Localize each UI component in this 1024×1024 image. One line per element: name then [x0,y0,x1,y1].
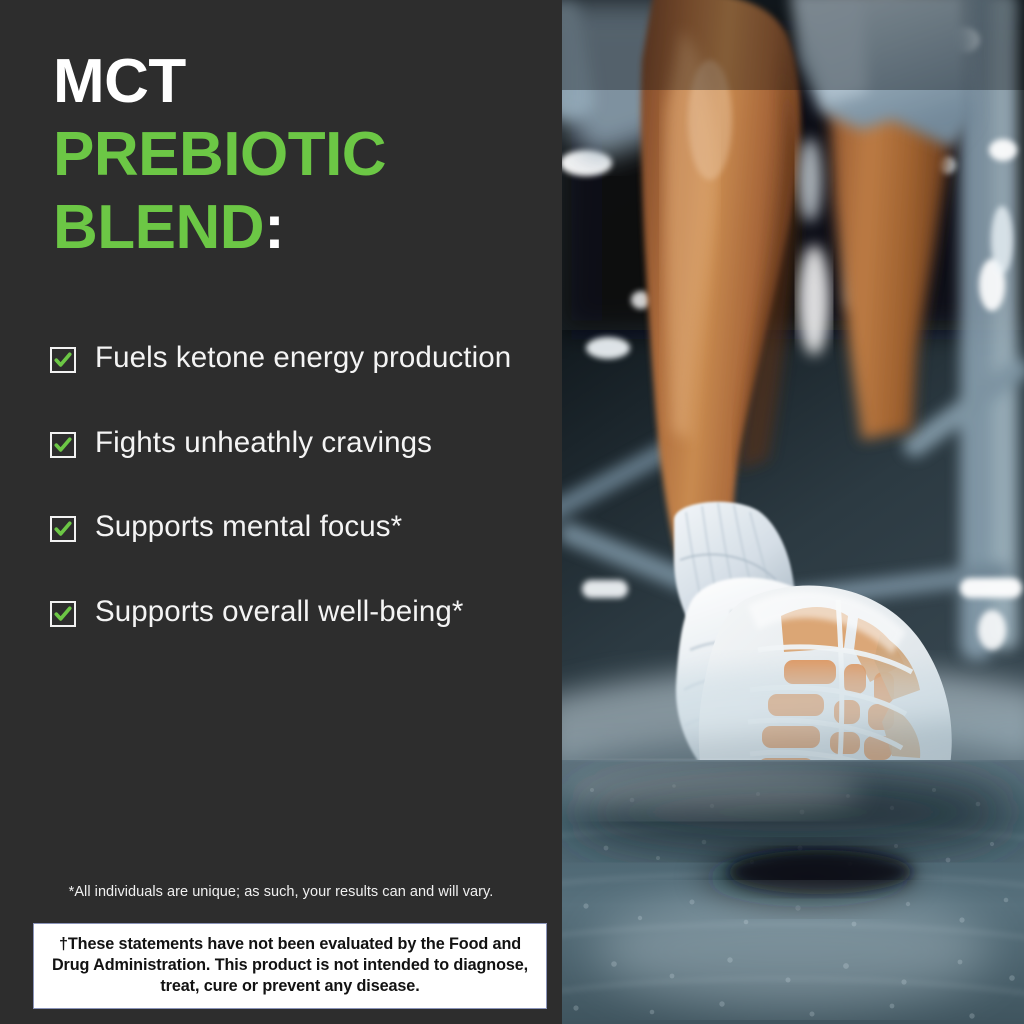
fda-disclaimer-box: †These statements have not been evaluate… [33,923,547,1009]
fda-disclaimer-text: †These statements have not been evaluate… [46,934,534,997]
headline-block: MCT PREBIOTIC BLEND: [53,52,533,258]
checkbox-checked-icon [50,601,76,627]
headline-blend-colon: : [264,193,284,262]
promo-graphic: MCT PREBIOTIC BLEND: Fuels ketone energy… [0,0,1024,1024]
results-vary-disclaimer: *All individuals are unique; as such, yo… [0,884,562,900]
benefit-item: Supports mental focus* [50,507,530,548]
headline-blend-word: BLEND [53,193,264,262]
checkbox-checked-icon [50,432,76,458]
headline-line-mct: MCT [53,52,533,113]
benefit-label: Fights unheathly cravings [95,423,432,464]
headline-line-blend: BLEND: [53,198,533,259]
benefit-item: Fuels ketone energy production [50,338,530,379]
checkbox-checked-icon [50,516,76,542]
headline-line-prebiotic: PREBIOTIC [53,125,533,186]
benefits-list: Fuels ketone energy production Fights un… [50,338,530,633]
benefit-item: Supports overall well-being* [50,592,530,633]
benefit-item: Fights unheathly cravings [50,423,530,464]
checkbox-checked-icon [50,347,76,373]
text-panel: MCT PREBIOTIC BLEND: Fuels ketone energy… [0,0,562,1024]
benefit-label: Supports mental focus* [95,507,402,548]
benefit-label: Fuels ketone energy production [95,338,511,379]
benefit-label: Supports overall well-being* [95,592,463,633]
treadmill-runner-photo [562,0,1024,1024]
